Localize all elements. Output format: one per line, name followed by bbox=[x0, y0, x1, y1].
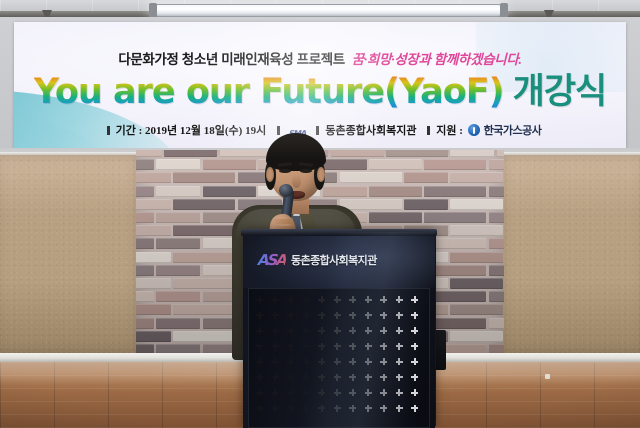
podium-perforation bbox=[411, 374, 418, 381]
speaker-hair bbox=[266, 133, 326, 171]
podium-perforation bbox=[334, 343, 341, 350]
podium-perforation bbox=[287, 405, 294, 412]
podium-perforation bbox=[349, 296, 356, 303]
podium-perforation bbox=[318, 312, 325, 319]
podium-perforation bbox=[334, 389, 341, 396]
podium-perforation bbox=[411, 312, 418, 319]
podium-perforation bbox=[303, 374, 310, 381]
podium-perforation bbox=[256, 358, 263, 365]
podium-perforation bbox=[256, 374, 263, 381]
podium-perforation bbox=[365, 296, 372, 303]
podium-perforation bbox=[365, 374, 372, 381]
podium-perforation bbox=[303, 389, 310, 396]
podium-perforation bbox=[272, 296, 279, 303]
podium-perforation bbox=[380, 343, 387, 350]
podium-perforation bbox=[349, 327, 356, 334]
podium-perforation bbox=[396, 343, 403, 350]
podium-perforation bbox=[380, 312, 387, 319]
podium-perforation bbox=[272, 358, 279, 365]
podium-perforation bbox=[287, 374, 294, 381]
podium-perforation bbox=[318, 389, 325, 396]
podium-perforation bbox=[334, 327, 341, 334]
podium-perforation bbox=[334, 374, 341, 381]
podium-top-surface bbox=[241, 229, 437, 236]
podium-perforation bbox=[349, 312, 356, 319]
podium-perforation bbox=[287, 358, 294, 365]
podium-perforation bbox=[380, 296, 387, 303]
podium-perforation bbox=[411, 405, 418, 412]
podium-perforation bbox=[287, 327, 294, 334]
podium-perforation bbox=[334, 405, 341, 412]
speaker-finger bbox=[272, 219, 293, 224]
podium-perforation bbox=[349, 358, 356, 365]
podium-logo-mark: ASA bbox=[256, 250, 289, 270]
podium-perforation bbox=[272, 327, 279, 334]
podium-perforation bbox=[349, 389, 356, 396]
podium-perforation bbox=[318, 374, 325, 381]
podium-perforation bbox=[256, 405, 263, 412]
podium-perforation bbox=[380, 327, 387, 334]
podium-perforation bbox=[303, 358, 310, 365]
podium-perforation bbox=[365, 327, 372, 334]
podium-perforation bbox=[396, 327, 403, 334]
podium-perforation bbox=[380, 405, 387, 412]
podium-perforation bbox=[380, 389, 387, 396]
podium-perforation bbox=[303, 327, 310, 334]
podium-perforation bbox=[272, 343, 279, 350]
podium-perforation bbox=[396, 358, 403, 365]
podium-perforation bbox=[272, 389, 279, 396]
podium-perforation bbox=[396, 374, 403, 381]
podium-perforation bbox=[396, 389, 403, 396]
podium-perforation bbox=[365, 358, 372, 365]
podium-perforation bbox=[318, 296, 325, 303]
podium-perforation bbox=[287, 312, 294, 319]
podium-perforation bbox=[256, 389, 263, 396]
podium-perforation bbox=[334, 296, 341, 303]
podium-perforation bbox=[272, 374, 279, 381]
podium-perforation bbox=[256, 312, 263, 319]
podium-perforation bbox=[349, 343, 356, 350]
podium-perforation bbox=[411, 296, 418, 303]
podium-perforation bbox=[303, 405, 310, 412]
podium-perforation bbox=[365, 389, 372, 396]
podium-perforation bbox=[396, 296, 403, 303]
podium-perforation bbox=[380, 374, 387, 381]
podium-perforation bbox=[272, 312, 279, 319]
speaker-ear-left bbox=[266, 167, 274, 182]
podium-logo: ASA동촌종합사회복지관 bbox=[258, 250, 428, 270]
speaker-eye-right bbox=[300, 169, 312, 173]
podium-perforation bbox=[303, 296, 310, 303]
podium-perforation bbox=[303, 343, 310, 350]
podium-perforation bbox=[256, 296, 263, 303]
podium-perforation bbox=[349, 405, 356, 412]
podium-perforation bbox=[334, 312, 341, 319]
podium-perforation bbox=[303, 312, 310, 319]
speaker-nose bbox=[292, 175, 301, 188]
podium-perforation bbox=[318, 358, 325, 365]
podium-perforation bbox=[365, 312, 372, 319]
podium-perforation bbox=[411, 358, 418, 365]
podium-perforation bbox=[287, 296, 294, 303]
speaker-ear-right bbox=[317, 167, 325, 182]
podium-perforation bbox=[272, 405, 279, 412]
podium-perforation bbox=[318, 343, 325, 350]
podium-perforation bbox=[256, 327, 263, 334]
podium-perforation bbox=[411, 389, 418, 396]
podium-perforation bbox=[365, 405, 372, 412]
podium-perforation-grid bbox=[256, 296, 424, 422]
podium-perforation bbox=[349, 374, 356, 381]
podium-perforation bbox=[396, 312, 403, 319]
podium-perforation bbox=[380, 358, 387, 365]
podium-perforation bbox=[318, 405, 325, 412]
podium-perforation bbox=[334, 358, 341, 365]
speaker-eye-left bbox=[279, 169, 291, 173]
podium-perforation bbox=[318, 327, 325, 334]
event-photo-scene: 다문화가정 청소년 미래인재육성 프로젝트꿈·희망·성장과 함께하겠습니다. Y… bbox=[0, 0, 640, 428]
podium-perforation bbox=[411, 343, 418, 350]
podium-perforation bbox=[365, 343, 372, 350]
podium-perforation bbox=[287, 343, 294, 350]
podium-perforation bbox=[287, 389, 294, 396]
podium-logo-text: 동촌종합사회복지관 bbox=[291, 251, 377, 271]
podium-perforation bbox=[256, 343, 263, 350]
podium-perforation bbox=[411, 327, 418, 334]
podium-perforation bbox=[396, 405, 403, 412]
